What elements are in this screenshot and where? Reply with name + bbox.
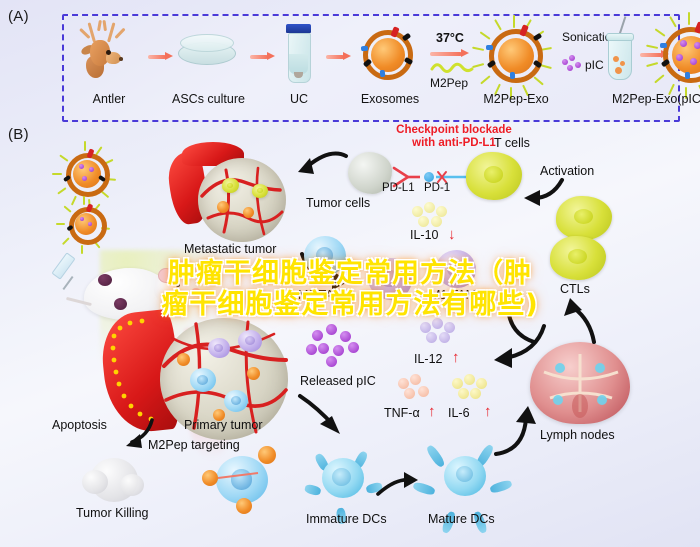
label-apoptosis: Apoptosis: [52, 418, 107, 432]
label-il6: IL-6: [448, 406, 470, 420]
inner-exosome: [246, 366, 261, 381]
step-label-m2pep-exo: M2Pep-Exo: [462, 92, 570, 106]
arrow-activation: [518, 176, 566, 210]
free-exosome-icon: [62, 200, 108, 246]
mouse-eye: [176, 283, 180, 287]
panel-a-box: Antler ASCs culture UC: [62, 14, 680, 122]
label-lymph-nodes: Lymph nodes: [540, 428, 615, 442]
label-ctls: CTLs: [560, 282, 590, 296]
targeting-exosome: [234, 496, 254, 516]
label-m2-tams: M2 TAMs: [298, 288, 350, 302]
label-metastatic-tumor: Metastatic tumor: [184, 242, 276, 256]
il12-trend-arrow: ↑: [452, 349, 460, 366]
inner-exosome: [242, 206, 255, 219]
tumor-infiltrating-cell: [224, 390, 248, 412]
label-il12: IL-12: [414, 352, 443, 366]
il10-trend-arrow: ↓: [448, 226, 456, 243]
il10-cytokine: [431, 216, 442, 227]
figure-canvas: (A) Antler ASCs culture: [0, 0, 700, 547]
loaded-exosome-icon: [654, 18, 700, 90]
released-plc-particle: [340, 331, 351, 342]
label-released-plc: Released pIC: [300, 374, 376, 388]
label-tumor-killing: Tumor Killing: [76, 506, 148, 520]
label-tnfa: TNF-α: [384, 406, 420, 420]
plc-particle: [567, 65, 573, 71]
immature-dc-icon: [312, 448, 374, 508]
arrow-metastasis: [284, 150, 352, 192]
membrane-protein-blue: [380, 70, 386, 77]
tumor-inner-cell: [252, 184, 268, 198]
label-pdl1: PD-L1: [382, 182, 415, 194]
mouse-nose: [192, 288, 200, 293]
tumor-spot: [98, 274, 112, 286]
plc-label: pIC: [585, 58, 604, 72]
membrane-protein-blue: [486, 45, 493, 50]
membrane-protein-blue: [685, 72, 690, 79]
il10-cytokine: [418, 216, 429, 227]
il6-cytokine: [470, 388, 481, 399]
arrow-cytokine-to-lymph: [482, 318, 554, 370]
il10-cytokine: [424, 202, 435, 213]
m1-tam-cell: [436, 250, 476, 288]
label-immature-dcs: Immature DCs: [306, 512, 387, 526]
process-arrow-2: [250, 52, 276, 61]
mouse-ear: [158, 268, 174, 283]
sonicator-tube-icon: [606, 30, 636, 86]
ctl-cell-icon: [556, 196, 612, 240]
label-tumor-cells: Tumor cells: [306, 196, 370, 210]
label-mature-dcs: Mature DCs: [428, 512, 495, 526]
arrow-ctl-priming-right: [560, 296, 608, 348]
released-plc-particle: [306, 344, 317, 355]
tumor-infiltrating-cell: [208, 338, 230, 358]
tnfa-cytokine: [418, 386, 429, 397]
membrane-protein-blue: [361, 46, 368, 52]
tumor-vasculature: [196, 156, 288, 246]
peptide-exosome-icon: [480, 20, 550, 90]
panel-b-letter: (B): [8, 126, 29, 143]
inner-exosome: [216, 200, 230, 214]
tumor-inner-cell: [222, 178, 239, 193]
tumor-infiltrating-cell: [190, 368, 216, 392]
apoptotic-fragment: [82, 470, 108, 494]
step-label-m2pep-exo-plc: M2Pep-Exo(pIC): [612, 92, 700, 106]
il6-cytokine: [464, 374, 475, 385]
t-cell-icon: [466, 152, 522, 200]
released-plc-particle: [348, 342, 359, 353]
deer-head-icon: [76, 20, 142, 86]
label-primary-tumor: Primary tumor: [184, 418, 262, 432]
targeting-link: [216, 470, 262, 484]
plc-particle: [562, 59, 568, 65]
targeting-exosome: [256, 444, 278, 466]
released-plc-particle: [312, 330, 323, 341]
released-plc-particle: [326, 356, 337, 367]
tnfa-cytokine: [404, 388, 415, 399]
il6-cytokine: [476, 378, 487, 389]
released-plc-particle: [318, 343, 329, 354]
step-label-exosomes: Exosomes: [350, 92, 430, 106]
il12-cytokine: [432, 318, 443, 329]
panel-a-letter: (A): [8, 8, 29, 25]
temperature-label: 37°C: [436, 31, 464, 45]
label-m2pep-targeting: M2Pep targeting: [148, 438, 240, 452]
il12-cytokine: [439, 332, 450, 343]
arrow-dc-uptake: [292, 392, 348, 440]
m1-tam-cell: [368, 258, 412, 300]
centrifuge-tube-icon: [286, 24, 312, 84]
il12-cytokine: [426, 332, 437, 343]
label-il10: IL-10: [410, 228, 439, 242]
petri-dish-icon: [178, 34, 236, 68]
plc-particle: [575, 62, 581, 68]
step-label-ascs: ASCs culture: [172, 92, 244, 106]
arrow-apoptosis: [114, 416, 158, 452]
membrane-protein-red: [694, 21, 700, 33]
released-plc-particle: [333, 345, 344, 356]
exosome-icon: [360, 27, 416, 83]
ctl-cell-icon: [550, 236, 606, 280]
released-plc-particle: [326, 324, 337, 335]
tnfa-cytokine: [410, 374, 421, 385]
label-pd1: PD-1: [424, 182, 450, 194]
process-arrow-1: [148, 52, 174, 61]
label-t-cells: T cells: [494, 136, 530, 150]
m2-tam-cell: [304, 236, 346, 276]
step-label-antler: Antler: [76, 92, 142, 106]
syringe-needle: [62, 276, 73, 290]
apoptotic-fragment: [120, 474, 144, 496]
membrane-protein-black: [402, 33, 411, 42]
process-arrow-4: [430, 49, 472, 58]
tnfa-trend-arrow: ↑: [428, 403, 436, 420]
step-label-uc: UC: [276, 92, 322, 106]
process-arrow-3: [326, 52, 352, 61]
tumor-infiltrating-cell: [238, 330, 262, 352]
m2pep-label: M2Pep: [430, 76, 468, 90]
tumor-spot: [114, 298, 127, 310]
free-exosome-icon: [58, 145, 114, 201]
label-m1-tams: M1 TAMs: [430, 288, 482, 302]
il6-cytokine: [458, 388, 469, 399]
inner-exosome: [176, 352, 191, 367]
membrane-protein-blue: [510, 72, 515, 79]
membrane-protein-blue: [660, 43, 667, 48]
m2pep-squiggle-icon: [430, 60, 474, 74]
